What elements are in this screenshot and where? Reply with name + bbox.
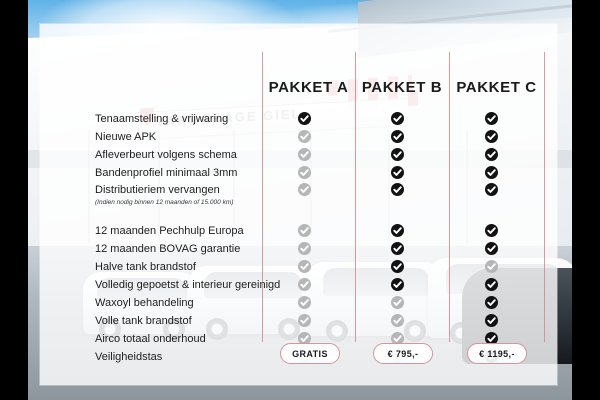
check-b-g2-5-excluded	[391, 296, 404, 309]
check-b-g2-3-included	[391, 260, 404, 273]
feature-label: Nieuwe APK	[95, 131, 156, 144]
package-header-a: PAKKET A	[262, 79, 355, 96]
check-c-g1-2-included	[485, 130, 498, 143]
check-a-g2-4-excluded	[298, 278, 311, 291]
check-b-g1-1-included	[391, 112, 404, 125]
feature-label: Tenaamstelling & vrijwaring	[95, 113, 228, 126]
check-a-g1-2-excluded	[298, 130, 311, 143]
check-b-g2-1-included	[391, 224, 404, 237]
check-b-g2-2-included	[391, 242, 404, 255]
check-c-g2-3-excluded	[485, 260, 498, 273]
check-b-g1-5-included	[391, 183, 404, 196]
check-c-g1-4-included	[485, 166, 498, 179]
feature-label: 12 maanden Pechhulp Europa	[95, 225, 244, 238]
check-b-g1-2-included	[391, 130, 404, 143]
check-b-g1-4-included	[391, 166, 404, 179]
package-header-c: PAKKET C	[449, 79, 544, 96]
package-header-b: PAKKET B	[355, 79, 449, 96]
check-a-g2-2-excluded	[298, 242, 311, 255]
feature-note: (Indien nodig binnen 12 maanden of 15.00…	[95, 199, 233, 206]
pricing-table-panel: PAKKET A PAKKET B PAKKET C Tenaamstellin…	[40, 24, 557, 385]
check-c-g1-1-included	[485, 112, 498, 125]
column-divider	[544, 52, 545, 342]
check-b-g2-6-excluded	[391, 314, 404, 327]
check-c-g2-1-included	[485, 224, 498, 237]
check-a-g2-3-excluded	[298, 260, 311, 273]
check-a-g2-6-excluded	[298, 314, 311, 327]
check-a-g1-4-excluded	[298, 166, 311, 179]
price-pill-c[interactable]: € 1195,-	[467, 343, 527, 364]
check-c-g2-6-included	[485, 314, 498, 327]
check-c-g1-3-included	[485, 148, 498, 161]
price-pill-b[interactable]: € 795,-	[373, 343, 433, 364]
check-c-g2-2-included	[485, 242, 498, 255]
feature-label: Halve tank brandstof	[95, 261, 196, 274]
check-a-g2-1-excluded	[298, 224, 311, 237]
price-pill-a[interactable]: GRATIS	[280, 343, 340, 364]
check-b-g2-4-included	[391, 278, 404, 291]
check-a-g1-3-excluded	[298, 148, 311, 161]
feature-label: Afleverbeurt volgens schema	[95, 149, 237, 162]
feature-label: Waxoyl behandeling	[95, 297, 194, 310]
feature-label: 12 maanden BOVAG garantie	[95, 243, 240, 256]
feature-label: Distributieriem vervangen	[95, 184, 220, 197]
feature-label: Bandenprofiel minimaal 3mm	[95, 167, 237, 180]
check-c-g1-5-included	[485, 183, 498, 196]
screenshot-stage: VANGARAGE GIEL	[0, 0, 600, 400]
feature-label: Volledig gepoetst & interieur gereinigd	[95, 279, 280, 292]
feature-label: Volle tank brandstof	[95, 315, 192, 328]
feature-label: Airco totaal onderhoud	[95, 333, 206, 346]
feature-label: Veiligheidstas	[95, 351, 162, 364]
check-a-g1-1-included	[298, 112, 311, 125]
check-c-g2-4-included	[485, 278, 498, 291]
check-a-g1-5-excluded	[298, 183, 311, 196]
check-c-g2-5-included	[485, 296, 498, 309]
check-a-g2-5-excluded	[298, 296, 311, 309]
check-b-g1-3-included	[391, 148, 404, 161]
